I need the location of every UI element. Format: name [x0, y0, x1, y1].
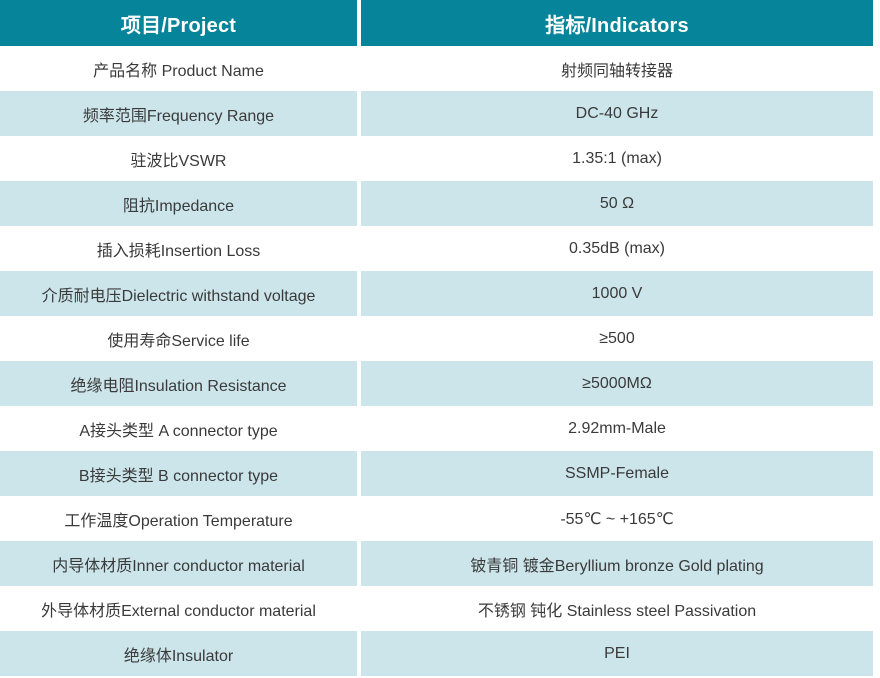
- cell-project: 内导体材质Inner conductor material: [0, 541, 357, 586]
- table-row: 使用寿命Service life≥500: [0, 316, 873, 361]
- table-row: 驻波比VSWR1.35:1 (max): [0, 136, 873, 181]
- cell-indicator: 2.92mm-Male: [361, 406, 873, 451]
- cell-project: 工作温度Operation Temperature: [0, 496, 357, 541]
- cell-indicator: 不锈钢 钝化 Stainless steel Passivation: [361, 586, 873, 631]
- cell-project: 阻抗Impedance: [0, 181, 357, 226]
- cell-indicator: PEI: [361, 631, 873, 676]
- cell-project: 绝缘电阻Insulation Resistance: [0, 361, 357, 406]
- cell-indicator: 50 Ω: [361, 181, 873, 226]
- table-row: 介质耐电压Dielectric withstand voltage1000 V: [0, 271, 873, 316]
- column-header-indicators: 指标/Indicators: [361, 0, 873, 46]
- table-row: 绝缘电阻Insulation Resistance≥5000MΩ: [0, 361, 873, 406]
- table-row: 插入损耗Insertion Loss0.35dB (max): [0, 226, 873, 271]
- specification-table: 项目/Project 指标/Indicators 产品名称 Product Na…: [0, 0, 873, 676]
- column-header-project: 项目/Project: [0, 0, 357, 46]
- cell-indicator: 1.35:1 (max): [361, 136, 873, 181]
- cell-project: 外导体材质External conductor material: [0, 586, 357, 631]
- header-row: 项目/Project 指标/Indicators: [0, 0, 873, 46]
- table-body: 产品名称 Product Name射频同轴转接器频率范围Frequency Ra…: [0, 46, 873, 676]
- cell-project: A接头类型 A connector type: [0, 406, 357, 451]
- cell-indicator: SSMP-Female: [361, 451, 873, 496]
- cell-project: 产品名称 Product Name: [0, 46, 357, 91]
- cell-indicator: 1000 V: [361, 271, 873, 316]
- cell-indicator: 射频同轴转接器: [361, 46, 873, 91]
- cell-indicator: 0.35dB (max): [361, 226, 873, 271]
- cell-project: B接头类型 B connector type: [0, 451, 357, 496]
- table-row: 阻抗Impedance50 Ω: [0, 181, 873, 226]
- cell-indicator: ≥500: [361, 316, 873, 361]
- table-row: 外导体材质External conductor material不锈钢 钝化 S…: [0, 586, 873, 631]
- cell-indicator: DC-40 GHz: [361, 91, 873, 136]
- table-row: 内导体材质Inner conductor material铍青铜 镀金Beryl…: [0, 541, 873, 586]
- table-row: 工作温度Operation Temperature-55℃ ~ +165℃: [0, 496, 873, 541]
- cell-project: 使用寿命Service life: [0, 316, 357, 361]
- cell-project: 频率范围Frequency Range: [0, 91, 357, 136]
- table-header: 项目/Project 指标/Indicators: [0, 0, 873, 46]
- cell-project: 绝缘体Insulator: [0, 631, 357, 676]
- cell-indicator: 铍青铜 镀金Beryllium bronze Gold plating: [361, 541, 873, 586]
- cell-project: 插入损耗Insertion Loss: [0, 226, 357, 271]
- table-row: 绝缘体InsulatorPEI: [0, 631, 873, 676]
- table-row: A接头类型 A connector type2.92mm-Male: [0, 406, 873, 451]
- table-row: B接头类型 B connector typeSSMP-Female: [0, 451, 873, 496]
- cell-project: 驻波比VSWR: [0, 136, 357, 181]
- cell-indicator: ≥5000MΩ: [361, 361, 873, 406]
- cell-indicator: -55℃ ~ +165℃: [361, 496, 873, 541]
- cell-project: 介质耐电压Dielectric withstand voltage: [0, 271, 357, 316]
- table-row: 产品名称 Product Name射频同轴转接器: [0, 46, 873, 91]
- table-row: 频率范围Frequency RangeDC-40 GHz: [0, 91, 873, 136]
